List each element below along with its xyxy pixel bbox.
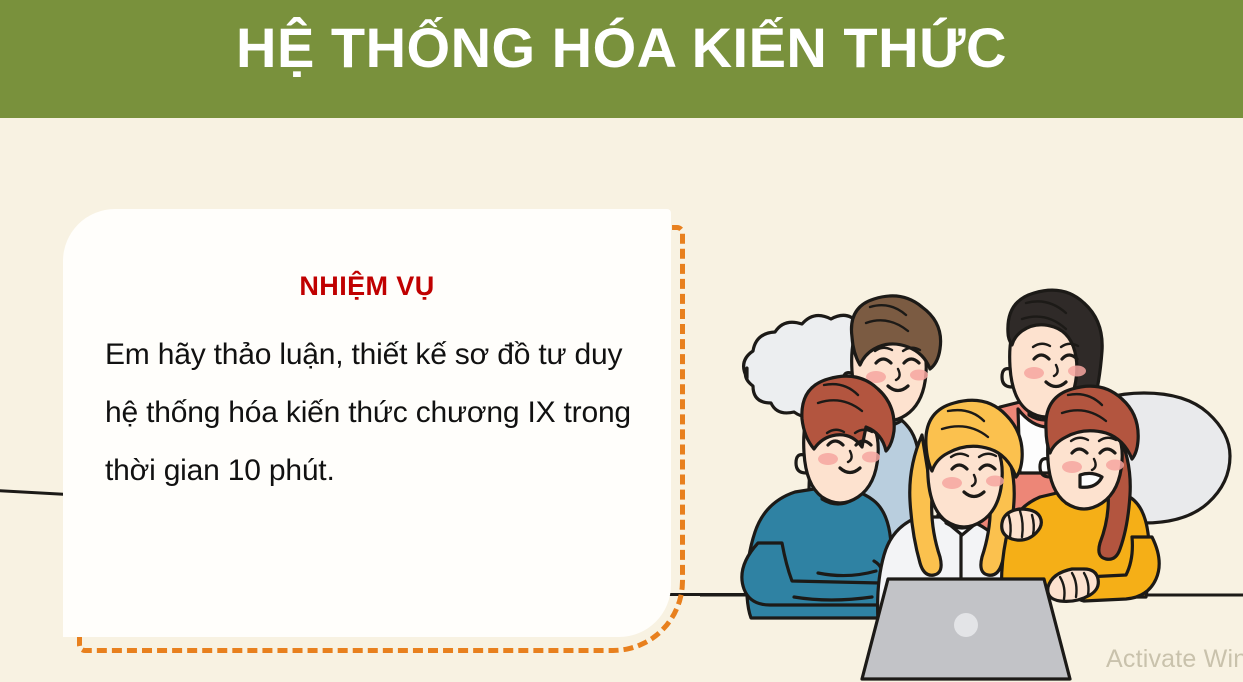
laptop: [862, 579, 1070, 679]
activate-windows-watermark: Activate Wind: [1106, 645, 1243, 674]
task-heading: NHIỆM VỤ: [63, 271, 671, 302]
page-title: HỆ THỐNG HÓA KIẾN THỨC: [0, 16, 1243, 80]
group-illustration: .ol { fill:none; stroke:#1c1a17; stroke-…: [700, 285, 1243, 682]
person-front-left: [742, 376, 894, 618]
header-band: HỆ THỐNG HÓA KIẾN THỨC: [0, 0, 1243, 118]
task-body-text: Em hãy thảo luận, thiết kế sơ đồ tư duy …: [105, 326, 645, 500]
slide-canvas: HỆ THỐNG HÓA KIẾN THỨC NHIỆM VỤ Em hãy t…: [0, 0, 1243, 682]
task-card: NHIỆM VỤ Em hãy thảo luận, thiết kế sơ đ…: [63, 209, 671, 637]
